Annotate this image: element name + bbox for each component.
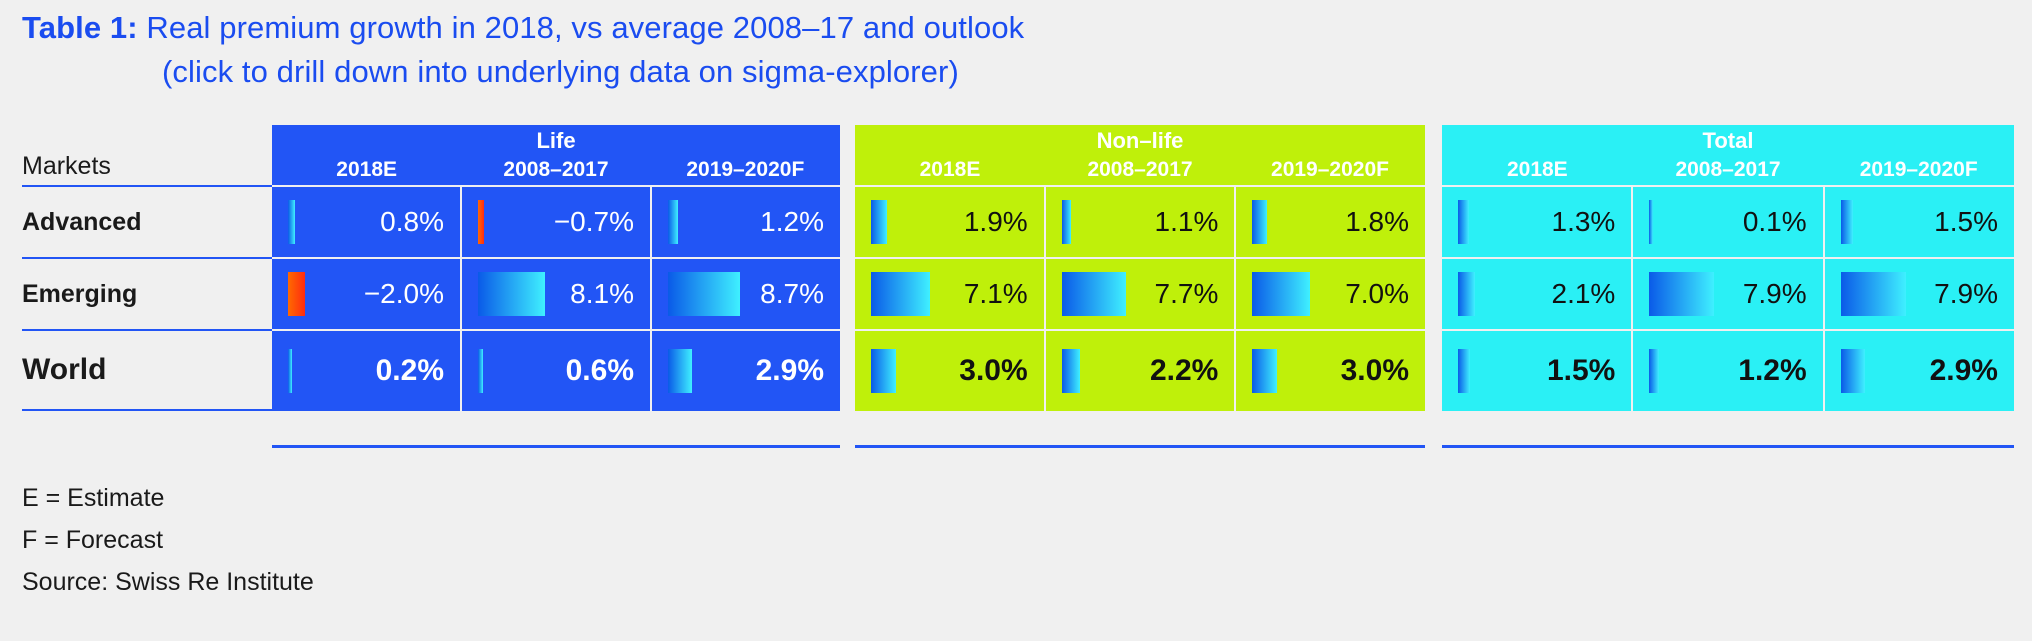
group-title-nonlife: Non–life bbox=[855, 127, 1425, 155]
cell-nonlife-world-2008-2017[interactable]: 2.2% bbox=[1046, 331, 1237, 411]
table-row: 7.1% 7.7% 7.0% bbox=[855, 259, 1425, 331]
sub-header-row-nonlife: 2018E 2008–2017 2019–2020F bbox=[855, 157, 1425, 183]
cell-value: 0.1% bbox=[1743, 208, 1807, 236]
row-label-world: World bbox=[22, 331, 272, 411]
col-header-2008-2017: 2008–2017 bbox=[1633, 157, 1824, 183]
table-row: 1.3% 0.1% 1.5% bbox=[1442, 187, 2014, 259]
mini-bar bbox=[871, 200, 887, 244]
group-bottom-rule bbox=[855, 445, 1425, 448]
table-row: −2.0% 8.1% 8.7% bbox=[272, 259, 840, 331]
mini-bar bbox=[1649, 349, 1659, 393]
mini-bar bbox=[478, 272, 545, 316]
cell-value: 0.8% bbox=[380, 208, 444, 236]
cell-nonlife-emerging-2019-2020f[interactable]: 7.0% bbox=[1236, 259, 1425, 331]
cell-life-world-2018e[interactable]: 0.2% bbox=[272, 331, 462, 411]
group-header-nonlife: Non–life 2018E 2008–2017 2019–2020F bbox=[855, 125, 1425, 187]
footnote-estimate: E = Estimate bbox=[22, 477, 314, 519]
row-label-advanced: Advanced bbox=[22, 187, 272, 259]
mini-bar bbox=[288, 200, 295, 244]
col-header-2019-2020f: 2019–2020F bbox=[651, 157, 840, 183]
col-header-2008-2017: 2008–2017 bbox=[461, 157, 650, 183]
cell-value: 1.3% bbox=[1552, 208, 1616, 236]
mini-bar bbox=[288, 349, 292, 393]
mini-bar bbox=[1649, 272, 1714, 316]
title-line-2[interactable]: (click to drill down into underlying dat… bbox=[22, 50, 1422, 94]
cell-life-advanced-2018e[interactable]: 0.8% bbox=[272, 187, 462, 259]
cell-value: 7.0% bbox=[1345, 280, 1409, 308]
footnote-source: Source: Swiss Re Institute bbox=[22, 561, 314, 603]
cell-life-emerging-2008-2017[interactable]: 8.1% bbox=[462, 259, 652, 331]
row-label-column: Markets Advanced Emerging World bbox=[0, 125, 272, 445]
table-row: 1.5% 1.2% 2.9% bbox=[1442, 331, 2014, 411]
cell-nonlife-emerging-2008-2017[interactable]: 7.7% bbox=[1046, 259, 1237, 331]
group-title-life: Life bbox=[272, 127, 840, 155]
mini-bar bbox=[668, 200, 678, 244]
footnotes: E = Estimate F = Forecast Source: Swiss … bbox=[22, 477, 314, 603]
mini-bar bbox=[1458, 272, 1475, 316]
table-row: 2.1% 7.9% 7.9% bbox=[1442, 259, 2014, 331]
page-title: Table 1: Real premium growth in 2018, vs… bbox=[22, 6, 1422, 94]
cell-nonlife-advanced-2018e[interactable]: 1.9% bbox=[855, 187, 1046, 259]
cell-value: 7.9% bbox=[1934, 280, 1998, 308]
cell-life-world-2008-2017[interactable]: 0.6% bbox=[462, 331, 652, 411]
cell-life-emerging-2019-2020f[interactable]: 8.7% bbox=[652, 259, 840, 331]
data-table: Markets Advanced Emerging World Life 201… bbox=[0, 125, 2032, 445]
mini-bar bbox=[478, 349, 483, 393]
cell-nonlife-world-2019-2020f[interactable]: 3.0% bbox=[1236, 331, 1425, 411]
cell-life-advanced-2019-2020f[interactable]: 1.2% bbox=[652, 187, 840, 259]
cell-nonlife-advanced-2019-2020f[interactable]: 1.8% bbox=[1236, 187, 1425, 259]
row-label-header: Markets bbox=[22, 125, 272, 187]
cell-value: 7.7% bbox=[1155, 280, 1219, 308]
table-group-life: Life 2018E 2008–2017 2019–2020F 0.8% −0.… bbox=[272, 125, 840, 445]
mini-bar bbox=[668, 349, 692, 393]
cell-total-emerging-2008-2017[interactable]: 7.9% bbox=[1633, 259, 1824, 331]
group-header-life: Life 2018E 2008–2017 2019–2020F bbox=[272, 125, 840, 187]
cell-value: 8.1% bbox=[570, 280, 634, 308]
cell-value: 1.9% bbox=[964, 208, 1028, 236]
cell-value: 2.2% bbox=[1150, 356, 1218, 386]
mini-bar bbox=[288, 272, 305, 316]
mini-bar bbox=[871, 349, 896, 393]
cell-life-emerging-2018e[interactable]: −2.0% bbox=[272, 259, 462, 331]
cell-value: 2.1% bbox=[1552, 280, 1616, 308]
table-number-label: Table 1: bbox=[22, 10, 138, 45]
cell-value: 1.1% bbox=[1155, 208, 1219, 236]
col-header-2008-2017: 2008–2017 bbox=[1045, 157, 1235, 183]
title-line-1: Table 1: Real premium growth in 2018, vs… bbox=[22, 6, 1422, 50]
table-row: 3.0% 2.2% 3.0% bbox=[855, 331, 1425, 411]
cell-value: 7.9% bbox=[1743, 280, 1807, 308]
sub-header-row-life: 2018E 2008–2017 2019–2020F bbox=[272, 157, 840, 183]
cell-value: 1.2% bbox=[1738, 356, 1806, 386]
cell-value: 7.1% bbox=[964, 280, 1028, 308]
mini-bar bbox=[1649, 200, 1653, 244]
mini-bar bbox=[1458, 200, 1469, 244]
mini-bar bbox=[1252, 349, 1277, 393]
col-header-2018e: 2018E bbox=[272, 157, 461, 183]
cell-total-advanced-2019-2020f[interactable]: 1.5% bbox=[1825, 187, 2014, 259]
cell-nonlife-advanced-2008-2017[interactable]: 1.1% bbox=[1046, 187, 1237, 259]
cell-value: 1.8% bbox=[1345, 208, 1409, 236]
mini-bar bbox=[1458, 349, 1470, 393]
cell-total-advanced-2018e[interactable]: 1.3% bbox=[1442, 187, 1633, 259]
mini-bar bbox=[1252, 200, 1267, 244]
cell-nonlife-emerging-2018e[interactable]: 7.1% bbox=[855, 259, 1046, 331]
group-header-total: Total 2018E 2008–2017 2019–2020F bbox=[1442, 125, 2014, 187]
mini-bar bbox=[1841, 200, 1853, 244]
footnote-forecast: F = Forecast bbox=[22, 519, 314, 561]
cell-nonlife-world-2018e[interactable]: 3.0% bbox=[855, 331, 1046, 411]
group-bottom-rule bbox=[272, 445, 840, 448]
mini-bar bbox=[1841, 349, 1865, 393]
table-group-total: Total 2018E 2008–2017 2019–2020F 1.3% 0.… bbox=[1442, 125, 2014, 445]
cell-value: −0.7% bbox=[554, 208, 634, 236]
cell-value: 3.0% bbox=[959, 356, 1027, 386]
cell-value: 0.6% bbox=[566, 356, 634, 386]
cell-value: −2.0% bbox=[364, 280, 444, 308]
col-header-2019-2020f: 2019–2020F bbox=[1235, 157, 1425, 183]
cell-total-world-2019-2020f[interactable]: 2.9% bbox=[1825, 331, 2014, 411]
cell-value: 0.2% bbox=[376, 356, 444, 386]
sub-header-row-total: 2018E 2008–2017 2019–2020F bbox=[1442, 157, 2014, 183]
mini-bar bbox=[1841, 272, 1906, 316]
cell-value: 8.7% bbox=[760, 280, 824, 308]
mini-bar bbox=[871, 272, 930, 316]
cell-total-emerging-2018e[interactable]: 2.1% bbox=[1442, 259, 1633, 331]
col-header-2018e: 2018E bbox=[855, 157, 1045, 183]
col-header-2019-2020f: 2019–2020F bbox=[1823, 157, 2014, 183]
mini-bar bbox=[1062, 200, 1071, 244]
table-row: 0.2% 0.6% 2.9% bbox=[272, 331, 840, 411]
mini-bar bbox=[1062, 349, 1080, 393]
cell-value: 2.9% bbox=[1930, 356, 1998, 386]
mini-bar bbox=[1062, 272, 1126, 316]
group-bottom-rule bbox=[1442, 445, 2014, 448]
title-text-line-1: Real premium growth in 2018, vs average … bbox=[146, 10, 1024, 45]
cell-life-world-2019-2020f[interactable]: 2.9% bbox=[652, 331, 840, 411]
cell-total-world-2018e[interactable]: 1.5% bbox=[1442, 331, 1633, 411]
mini-bar bbox=[1252, 272, 1310, 316]
row-label-emerging: Emerging bbox=[22, 259, 272, 331]
cell-value: 3.0% bbox=[1341, 356, 1409, 386]
table-row: 1.9% 1.1% 1.8% bbox=[855, 187, 1425, 259]
cell-value: 2.9% bbox=[756, 356, 824, 386]
cell-life-advanced-2008-2017[interactable]: −0.7% bbox=[462, 187, 652, 259]
cell-value: 1.2% bbox=[760, 208, 824, 236]
cell-total-world-2008-2017[interactable]: 1.2% bbox=[1633, 331, 1824, 411]
group-title-total: Total bbox=[1442, 127, 2014, 155]
cell-value: 1.5% bbox=[1934, 208, 1998, 236]
table-group-nonlife: Non–life 2018E 2008–2017 2019–2020F 1.9%… bbox=[855, 125, 1425, 445]
table-row: 0.8% −0.7% 1.2% bbox=[272, 187, 840, 259]
col-header-2018e: 2018E bbox=[1442, 157, 1633, 183]
cell-total-advanced-2008-2017[interactable]: 0.1% bbox=[1633, 187, 1824, 259]
cell-value: 1.5% bbox=[1547, 356, 1615, 386]
mini-bar bbox=[668, 272, 740, 316]
cell-total-emerging-2019-2020f[interactable]: 7.9% bbox=[1825, 259, 2014, 331]
mini-bar bbox=[478, 200, 484, 244]
